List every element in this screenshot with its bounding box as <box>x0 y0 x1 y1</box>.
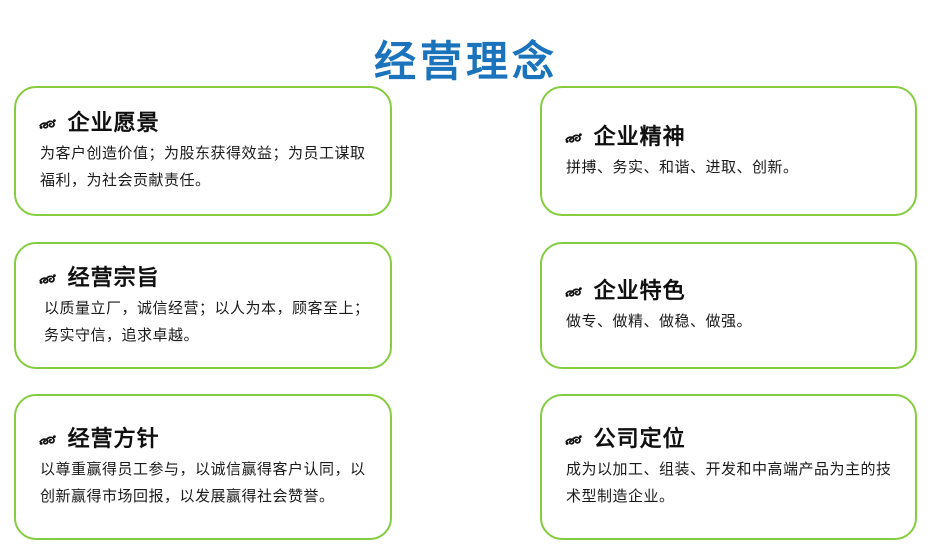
card-heading-text: 企业精神 <box>594 124 686 150</box>
card-body-management-policy: 以尊重赢得员工参与，以诚信赢得客户认同，以创新赢得市场回报，以发展赢得社会赞誉。 <box>40 456 374 510</box>
card-body-enterprise-vision: 为客户创造价值；为股东获得效益；为员工谋取福利，为社会贡献责任。 <box>40 140 374 194</box>
card-heading-enterprise-spirit: 企业精神 <box>564 122 901 152</box>
card-content: 公司定位 成为以加工、组装、开发和中高端产品为主的技术型制造企业。 <box>556 424 901 510</box>
card-company-positioning: 公司定位 成为以加工、组装、开发和中高端产品为主的技术型制造企业。 <box>540 394 917 540</box>
card-heading-management-purpose: 经营宗旨 <box>38 263 376 293</box>
card-enterprise-vision: 企业愿景 为客户创造价值；为股东获得效益；为员工谋取福利，为社会贡献责任。 <box>14 86 392 216</box>
page-title: 经营理念 <box>0 34 932 90</box>
card-heading-enterprise-vision: 企业愿景 <box>38 108 376 138</box>
card-heading-management-policy: 经营方针 <box>38 424 376 454</box>
card-content: 经营宗旨 以质量立厂，诚信经营；以人为本，顾客至上；务实守信，追求卓越。 <box>30 263 376 349</box>
card-heading-text: 经营方针 <box>68 426 160 452</box>
flourish-swirl-icon <box>38 271 58 287</box>
card-enterprise-feature: 企业特色 做专、做精、做稳、做强。 <box>540 242 917 369</box>
card-management-policy: 经营方针 以尊重赢得员工参与，以诚信赢得客户认同，以创新赢得市场回报，以发展赢得… <box>14 394 392 540</box>
card-body-company-positioning: 成为以加工、组装、开发和中高端产品为主的技术型制造企业。 <box>566 456 899 510</box>
card-content: 企业精神 拼搏、务实、和谐、进取、创新。 <box>556 122 901 181</box>
card-content: 经营方针 以尊重赢得员工参与，以诚信赢得客户认同，以创新赢得市场回报，以发展赢得… <box>30 424 376 510</box>
card-body-enterprise-spirit: 拼搏、务实、和谐、进取、创新。 <box>566 154 899 181</box>
card-heading-text: 企业愿景 <box>68 110 160 136</box>
card-heading-text: 经营宗旨 <box>68 265 160 291</box>
flourish-swirl-icon <box>564 284 584 300</box>
card-heading-company-positioning: 公司定位 <box>564 424 901 454</box>
card-body-enterprise-feature: 做专、做精、做稳、做强。 <box>566 308 899 335</box>
flourish-swirl-icon <box>564 432 584 448</box>
flourish-swirl-icon <box>564 130 584 146</box>
card-heading-enterprise-feature: 企业特色 <box>564 276 901 306</box>
card-content: 企业愿景 为客户创造价值；为股东获得效益；为员工谋取福利，为社会贡献责任。 <box>30 108 376 194</box>
card-heading-text: 公司定位 <box>594 426 686 452</box>
card-body-management-purpose: 以质量立厂，诚信经营；以人为本，顾客至上；务实守信，追求卓越。 <box>44 295 374 349</box>
idea-card-grid: 企业愿景 为客户创造价值；为股东获得效益；为员工谋取福利，为社会贡献责任。 <box>0 86 932 541</box>
card-content: 企业特色 做专、做精、做稳、做强。 <box>556 276 901 335</box>
card-enterprise-spirit: 企业精神 拼搏、务实、和谐、进取、创新。 <box>540 86 917 216</box>
flourish-swirl-icon <box>38 116 58 132</box>
page-root: 经营理念 企业愿景 为客户创造价值；为股东获得效益；为员工谋取福利， <box>0 0 932 555</box>
card-management-purpose: 经营宗旨 以质量立厂，诚信经营；以人为本，顾客至上；务实守信，追求卓越。 <box>14 242 392 369</box>
flourish-swirl-icon <box>38 432 58 448</box>
card-heading-text: 企业特色 <box>594 278 686 304</box>
